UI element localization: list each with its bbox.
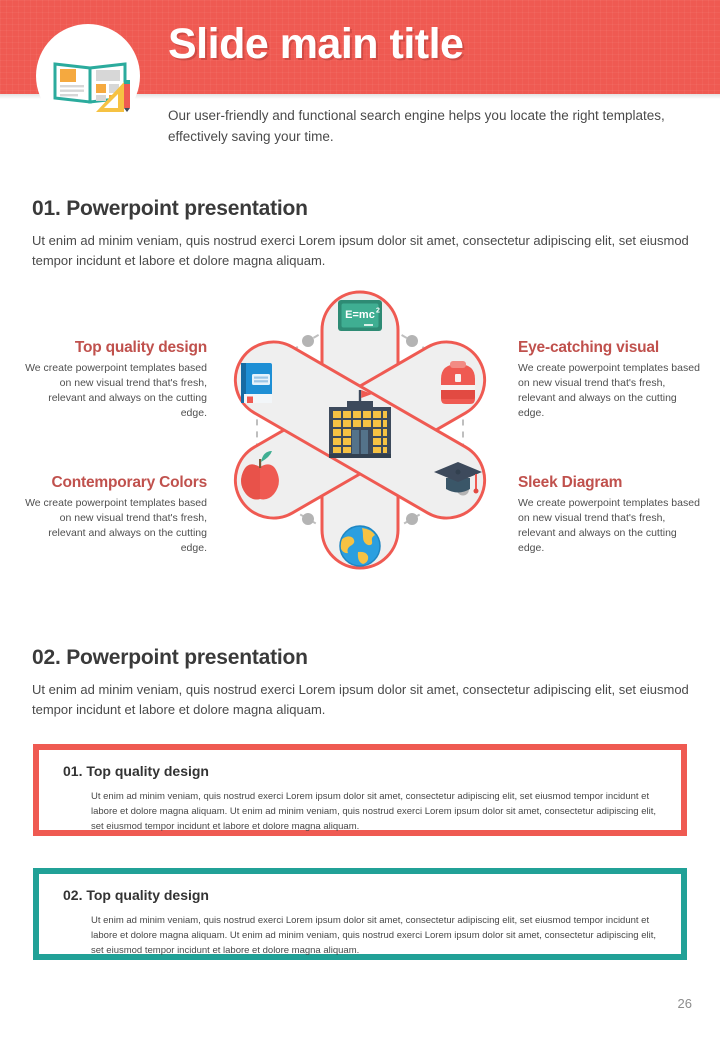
section-2-title: 02. Powerpoint presentation	[32, 646, 308, 670]
feature-body: We create powerpoint templates based on …	[518, 496, 703, 556]
svg-text:E=mc: E=mc	[345, 309, 375, 321]
globe-icon	[340, 526, 381, 566]
feature-title: Contemporary Colors	[22, 474, 207, 492]
open-book-ruler-pencil-icon	[52, 50, 134, 112]
callout-box-2: 02. Top quality design Ut enim ad minim …	[33, 868, 687, 960]
callout-box-1: 01. Top quality design Ut enim ad minim …	[33, 744, 687, 836]
feature-bottom-right: Sleek Diagram We create powerpoint templ…	[518, 474, 703, 556]
section-1-title: 01. Powerpoint presentation	[32, 197, 308, 221]
svg-text:2: 2	[376, 308, 380, 315]
blue-book-icon	[241, 363, 272, 403]
feature-body: We create powerpoint templates based on …	[22, 496, 207, 556]
feature-title: Sleek Diagram	[518, 474, 703, 492]
callout-title: 02. Top quality design	[63, 887, 209, 903]
section-2-body: Ut enim ad minim veniam, quis nostrud ex…	[32, 680, 692, 719]
page-number: 26	[678, 996, 692, 1011]
callout-title: 01. Top quality design	[63, 763, 209, 779]
page-title: Slide main title	[168, 20, 463, 69]
chalkboard-emc2-icon: E=mc 2	[338, 300, 382, 331]
callout-body: Ut enim ad minim veniam, quis nostrud ex…	[91, 913, 666, 958]
feature-top-right: Eye-catching visual We create powerpoint…	[518, 339, 703, 421]
feature-body: We create powerpoint templates based on …	[22, 361, 207, 421]
feature-body: We create powerpoint templates based on …	[518, 361, 703, 421]
header-subtitle: Our user-friendly and functional search …	[168, 106, 698, 148]
feature-title: Top quality design	[22, 339, 207, 357]
red-backpack-icon	[441, 361, 475, 404]
feature-title: Eye-catching visual	[518, 339, 703, 357]
atom-hexagon-diagram: E=mc 2	[205, 278, 515, 583]
feature-top-left: Top quality design We create powerpoint …	[22, 339, 207, 421]
callout-body: Ut enim ad minim veniam, quis nostrud ex…	[91, 789, 666, 834]
section-1-body: Ut enim ad minim veniam, quis nostrud ex…	[32, 231, 692, 270]
feature-bottom-left: Contemporary Colors We create powerpoint…	[22, 474, 207, 556]
